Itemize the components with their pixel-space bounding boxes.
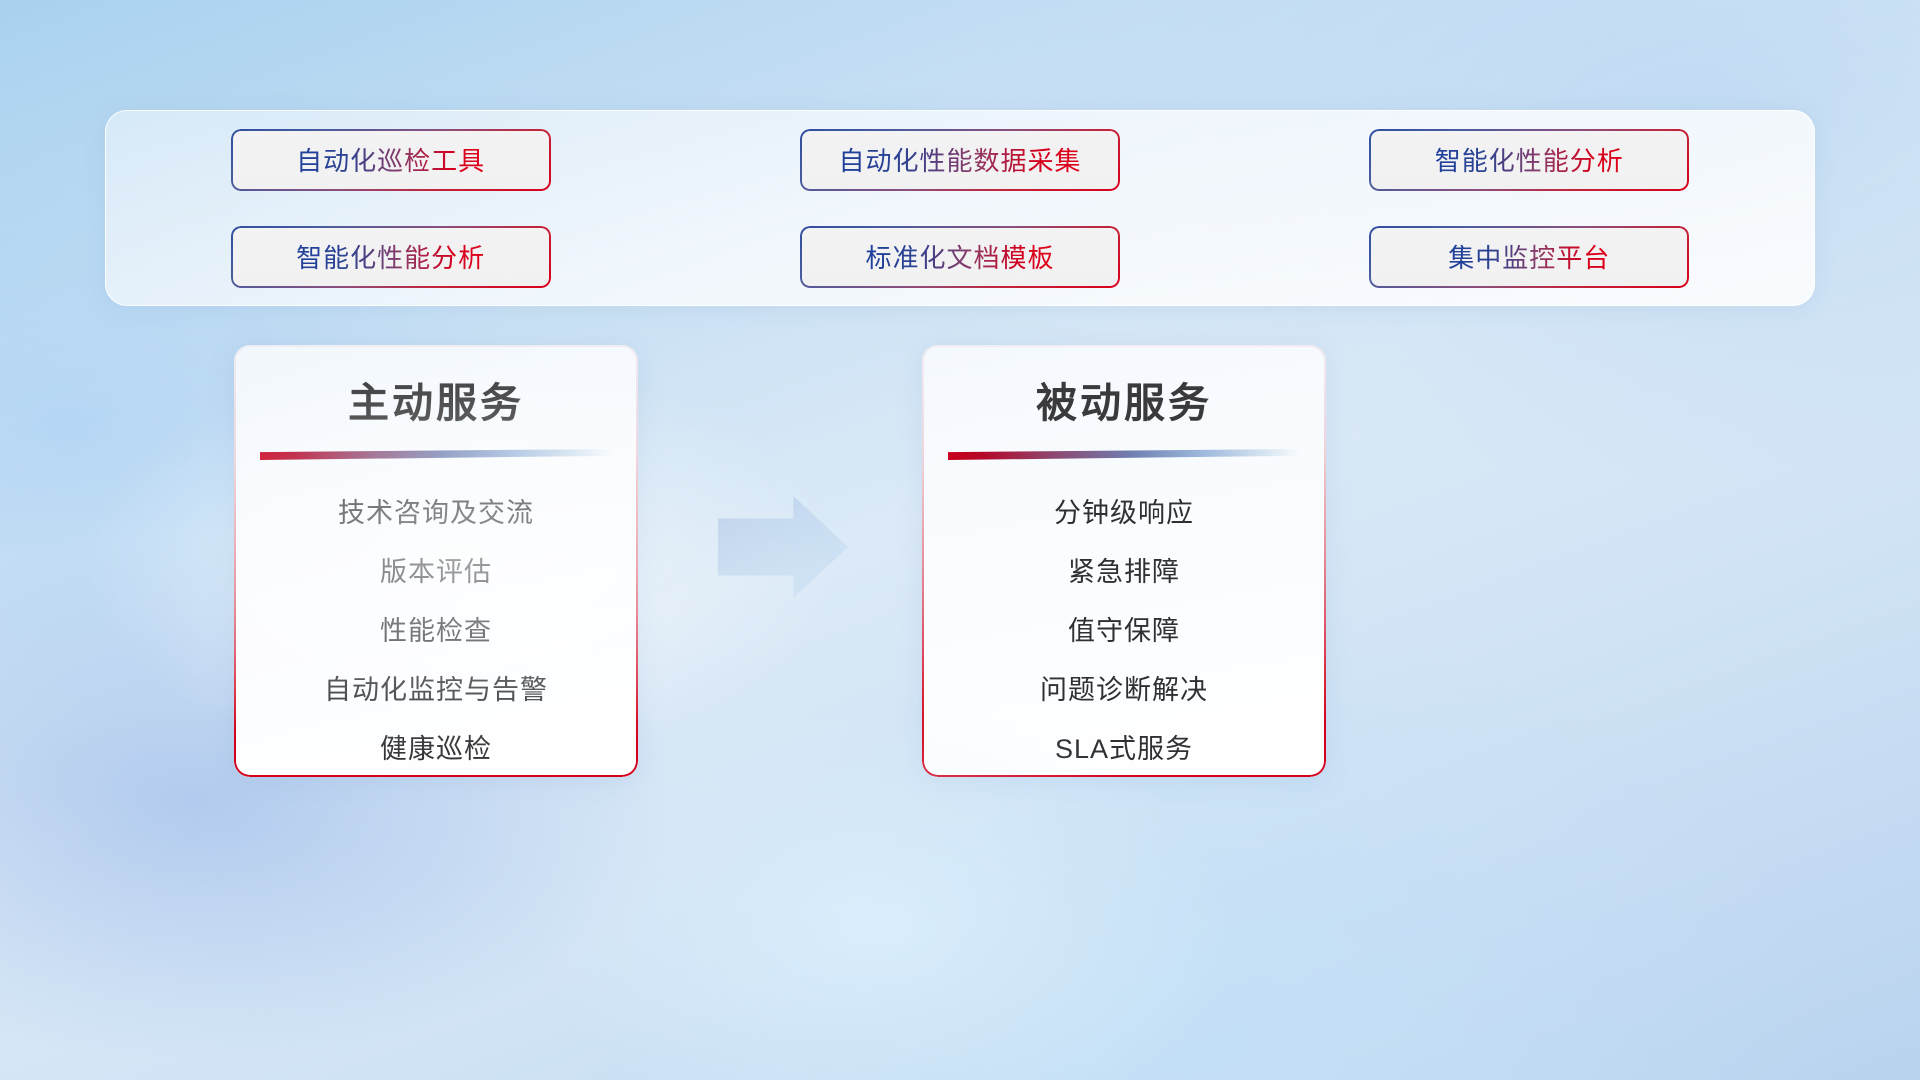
capability-tag[interactable]: 自动化性能数据采集 bbox=[800, 129, 1120, 191]
capability-tag-label: 智能化性能分析 bbox=[1435, 141, 1624, 178]
panel-item-list: 技术咨询及交流 版本评估 性能检查 自动化监控与告警 健康巡检 bbox=[234, 484, 638, 777]
panel-item-list: 分钟级响应 紧急排障 值守保障 问题诊断解决 SLA式服务 bbox=[922, 484, 1326, 777]
capability-tag[interactable]: 智能化性能分析 bbox=[231, 226, 551, 288]
list-item: 问题诊断解决 bbox=[1040, 661, 1208, 720]
arrow-right-icon bbox=[718, 496, 848, 598]
capability-tag-label: 自动化性能数据采集 bbox=[838, 141, 1081, 178]
capability-tag-label: 标准化文档模板 bbox=[865, 238, 1054, 275]
capability-tags-card: 自动化巡检工具 自动化性能数据采集 智能化性能分析 智能化性能分析 标准化文档模… bbox=[105, 110, 1815, 306]
panel-title: 主动服务 bbox=[234, 369, 638, 429]
list-item: 紧急排障 bbox=[1068, 543, 1180, 602]
capability-tag-label: 智能化性能分析 bbox=[296, 238, 485, 275]
capability-tag[interactable]: 智能化性能分析 bbox=[1369, 129, 1689, 191]
capability-tag-label: 自动化巡检工具 bbox=[296, 141, 485, 178]
panel-divider bbox=[948, 449, 1300, 460]
proactive-service-panel: 主动服务 技术咨询及交流 版本评估 性能检查 自动化监控与告警 健康巡检 bbox=[234, 345, 638, 777]
list-item: 值守保障 bbox=[1068, 602, 1180, 661]
list-item: 性能检查 bbox=[380, 602, 492, 661]
list-item: 分钟级响应 bbox=[1054, 484, 1194, 543]
reactive-service-panel: 被动服务 分钟级响应 紧急排障 值守保障 问题诊断解决 SLA式服务 bbox=[922, 345, 1326, 777]
list-item: 健康巡检 bbox=[380, 720, 492, 777]
panel-title: 被动服务 bbox=[922, 369, 1326, 429]
list-item: 自动化监控与告警 bbox=[324, 661, 548, 720]
list-item: 技术咨询及交流 bbox=[338, 484, 534, 543]
list-item: SLA式服务 bbox=[1055, 720, 1193, 777]
capability-tag[interactable]: 集中监控平台 bbox=[1369, 226, 1689, 288]
capability-tag[interactable]: 自动化巡检工具 bbox=[231, 129, 551, 191]
capability-tag-label: 集中监控平台 bbox=[1448, 238, 1610, 275]
panel-divider bbox=[260, 449, 612, 460]
capability-tag[interactable]: 标准化文档模板 bbox=[800, 226, 1120, 288]
list-item: 版本评估 bbox=[380, 543, 492, 602]
